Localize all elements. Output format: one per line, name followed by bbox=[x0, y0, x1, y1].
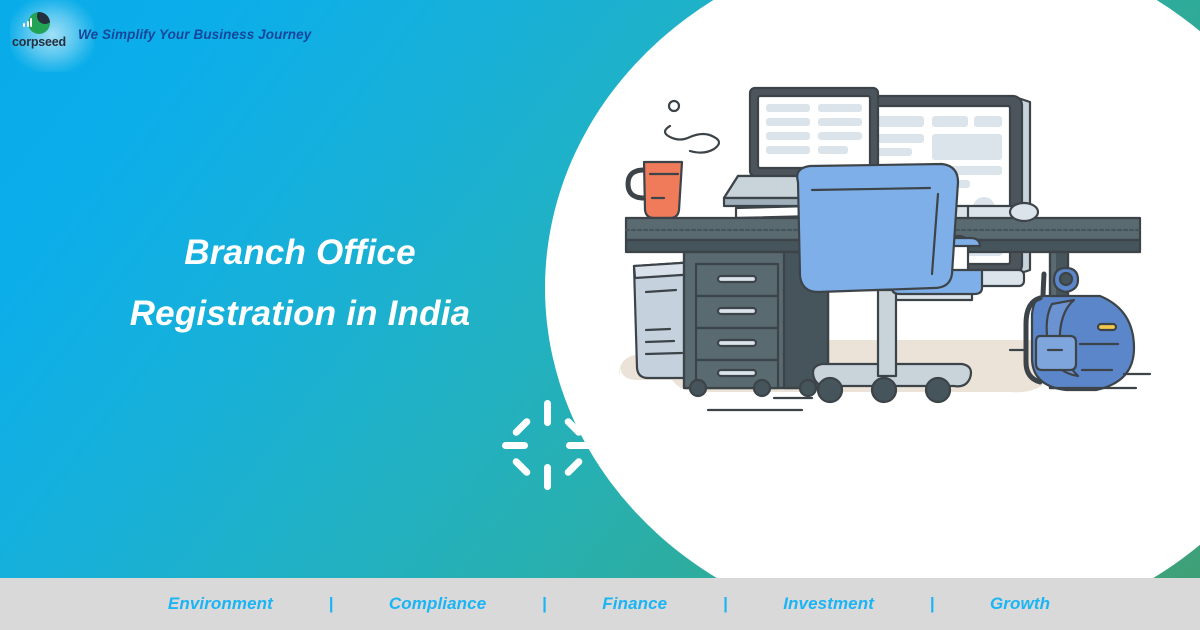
brand-tagline: We Simplify Your Business Journey bbox=[78, 27, 311, 42]
sparkle-starburst-icon bbox=[500, 398, 596, 494]
logo-bar-chart-icon bbox=[23, 18, 33, 27]
brand-logo[interactable]: corpseed We Simplify Your Business Journ… bbox=[16, 12, 311, 56]
bar-separator-4: | bbox=[874, 594, 990, 614]
page-title-line-1: Branch Office bbox=[90, 222, 510, 283]
bar-link-investment[interactable]: Investment bbox=[783, 594, 874, 614]
category-links-list: Environment | Compliance | Finance | Inv… bbox=[150, 594, 1050, 614]
banner-graphic: corpseed We Simplify Your Business Journ… bbox=[0, 0, 1200, 630]
office-desk-workspace-illustration bbox=[612, 78, 1152, 418]
bar-link-environment[interactable]: Environment bbox=[168, 594, 273, 614]
bar-link-growth[interactable]: Growth bbox=[990, 594, 1050, 614]
bar-separator-2: | bbox=[486, 594, 602, 614]
bar-separator-1: | bbox=[273, 594, 389, 614]
category-links-bar: Environment | Compliance | Finance | Inv… bbox=[0, 578, 1200, 630]
bar-separator-3: | bbox=[667, 594, 783, 614]
page-title-line-2: Registration in India bbox=[90, 283, 510, 344]
bar-link-finance[interactable]: Finance bbox=[602, 594, 667, 614]
logo-wordmark: corpseed bbox=[12, 36, 66, 49]
page-title: Branch Office Registration in India bbox=[90, 222, 510, 344]
bar-link-compliance[interactable]: Compliance bbox=[389, 594, 486, 614]
logo-mark: corpseed bbox=[16, 12, 62, 56]
